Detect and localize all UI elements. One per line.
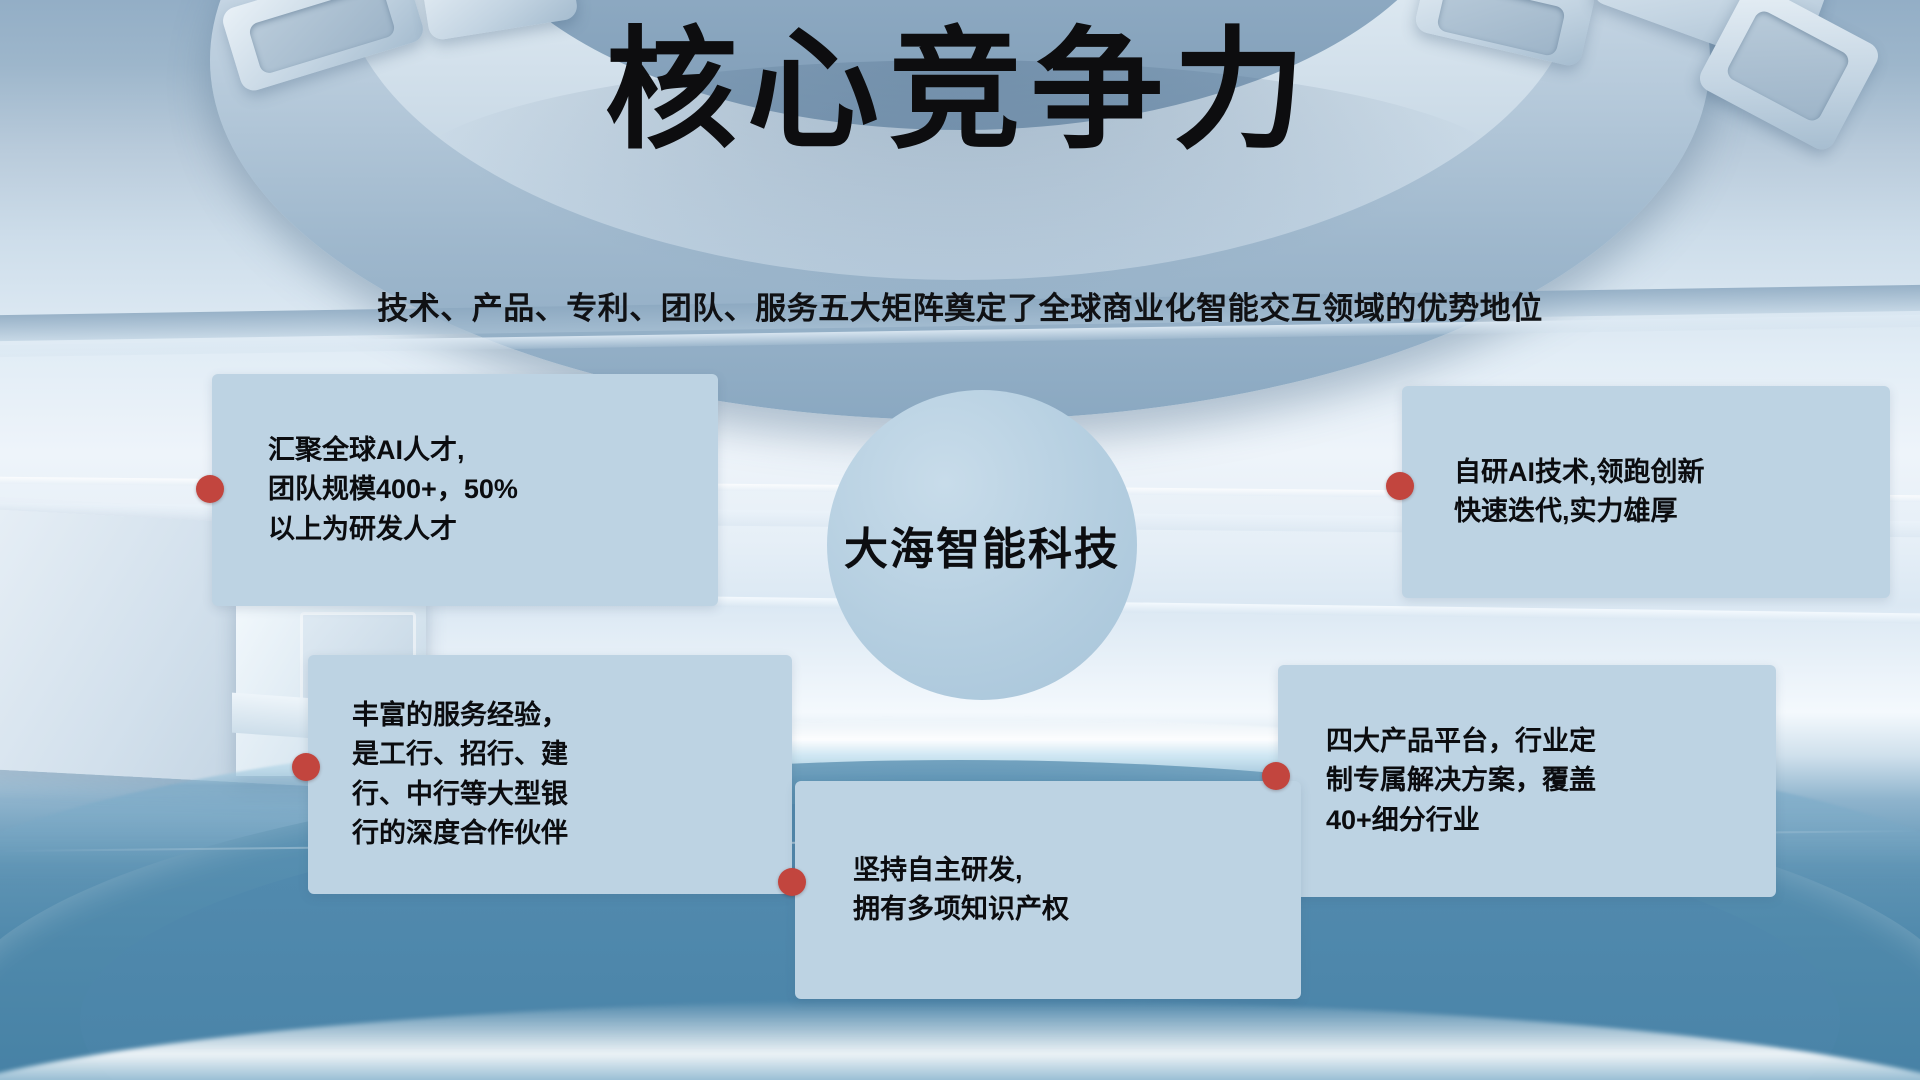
- callout-card-talent[interactable]: 汇聚全球AI人才, 团队规模400+，50% 以上为研发人才: [212, 374, 718, 606]
- slide-subtitle: 技术、产品、专利、团队、服务五大矩阵奠定了全球商业化智能交互领域的优势地位: [0, 283, 1920, 328]
- bullet-dot-icon-technology: [1386, 472, 1414, 500]
- slide-title: 核心竞争力: [0, 8, 1920, 173]
- bullet-dot-icon-products: [1262, 762, 1290, 790]
- callout-text-products: 四大产品平台，行业定 制专属解决方案，覆盖 40+细分行业: [1326, 722, 1752, 840]
- center-hub-circle: 大海智能科技: [827, 390, 1137, 700]
- bullet-dot-icon-service: [292, 753, 320, 781]
- callout-text-talent: 汇聚全球AI人才, 团队规模400+，50% 以上为研发人才: [268, 431, 692, 549]
- bullet-dot-icon-patents: [778, 868, 806, 896]
- stage-rim-light: [0, 1000, 1920, 1080]
- callout-card-patents[interactable]: 坚持自主研发, 拥有多项知识产权: [795, 781, 1301, 999]
- callout-text-service: 丰富的服务经验， 是工行、招行、建 行、中行等大型银 行的深度合作伙伴: [352, 696, 770, 854]
- callout-card-products[interactable]: 四大产品平台，行业定 制专属解决方案，覆盖 40+细分行业: [1278, 665, 1776, 897]
- bullet-dot-icon-talent: [196, 475, 224, 503]
- callout-card-technology[interactable]: 自研AI技术,领跑创新 快速迭代,实力雄厚: [1402, 386, 1890, 598]
- slide-canvas: 核心竞争力 技术、产品、专利、团队、服务五大矩阵奠定了全球商业化智能交互领域的优…: [0, 0, 1920, 1080]
- callout-text-patents: 坚持自主研发, 拥有多项知识产权: [853, 851, 1275, 930]
- center-hub-label: 大海智能科技: [844, 513, 1120, 577]
- callout-text-technology: 自研AI技术,领跑创新 快速迭代,实力雄厚: [1454, 453, 1866, 532]
- callout-card-service[interactable]: 丰富的服务经验， 是工行、招行、建 行、中行等大型银 行的深度合作伙伴: [308, 655, 792, 894]
